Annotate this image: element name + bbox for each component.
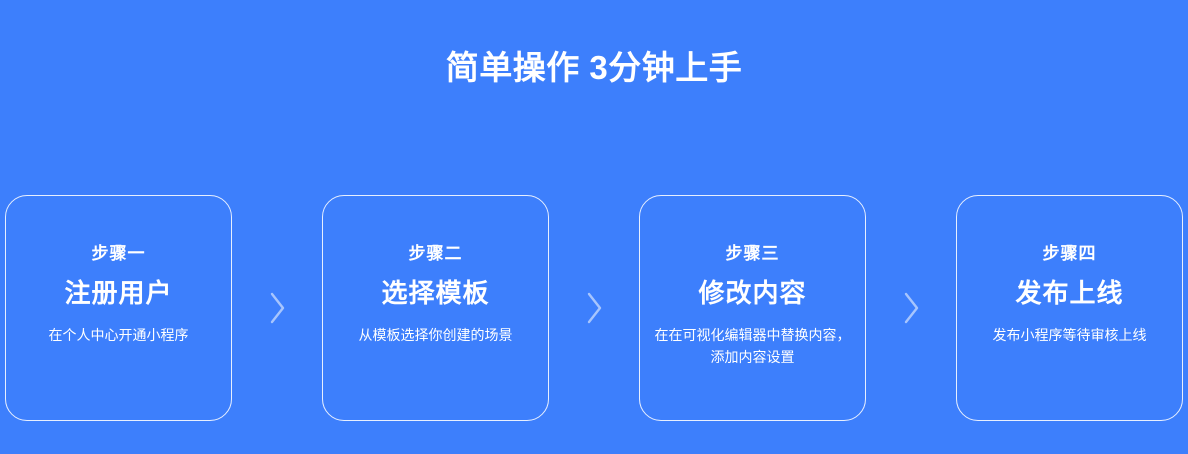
step-description: 在个人中心开通小程序 xyxy=(49,324,189,346)
step-title: 修改内容 xyxy=(698,276,806,310)
chevron-right-icon xyxy=(578,287,610,329)
chevron-right-icon xyxy=(261,287,293,329)
step-card-3[interactable]: 步骤三 修改内容 在在可视化编辑器中替换内容，添加内容设置 xyxy=(639,195,866,421)
step-index-label: 步骤三 xyxy=(726,242,780,266)
chevron-right-icon xyxy=(895,287,927,329)
step-title: 选择模板 xyxy=(381,276,489,310)
step-index-label: 步骤一 xyxy=(92,242,146,266)
step-description: 发布小程序等待审核上线 xyxy=(993,324,1147,346)
step-index-label: 步骤四 xyxy=(1043,242,1097,266)
step-card-1[interactable]: 步骤一 注册用户 在个人中心开通小程序 xyxy=(5,195,232,421)
step-description: 从模板选择你创建的场景 xyxy=(359,324,513,346)
promo-steps-section: 简单操作 3分钟上手 步骤一 注册用户 在个人中心开通小程序 步骤二 选择模板 … xyxy=(0,0,1188,454)
step-title: 注册用户 xyxy=(64,276,172,310)
step-description: 在在可视化编辑器中替换内容，添加内容设置 xyxy=(653,324,853,368)
step-card-2[interactable]: 步骤二 选择模板 从模板选择你创建的场景 xyxy=(322,195,549,421)
step-card-4[interactable]: 步骤四 发布上线 发布小程序等待审核上线 xyxy=(956,195,1183,421)
step-index-label: 步骤二 xyxy=(409,242,463,266)
step-title: 发布上线 xyxy=(1015,276,1123,310)
steps-row: 步骤一 注册用户 在个人中心开通小程序 步骤二 选择模板 从模板选择你创建的场景… xyxy=(5,195,1183,421)
page-title: 简单操作 3分钟上手 xyxy=(0,48,1188,88)
